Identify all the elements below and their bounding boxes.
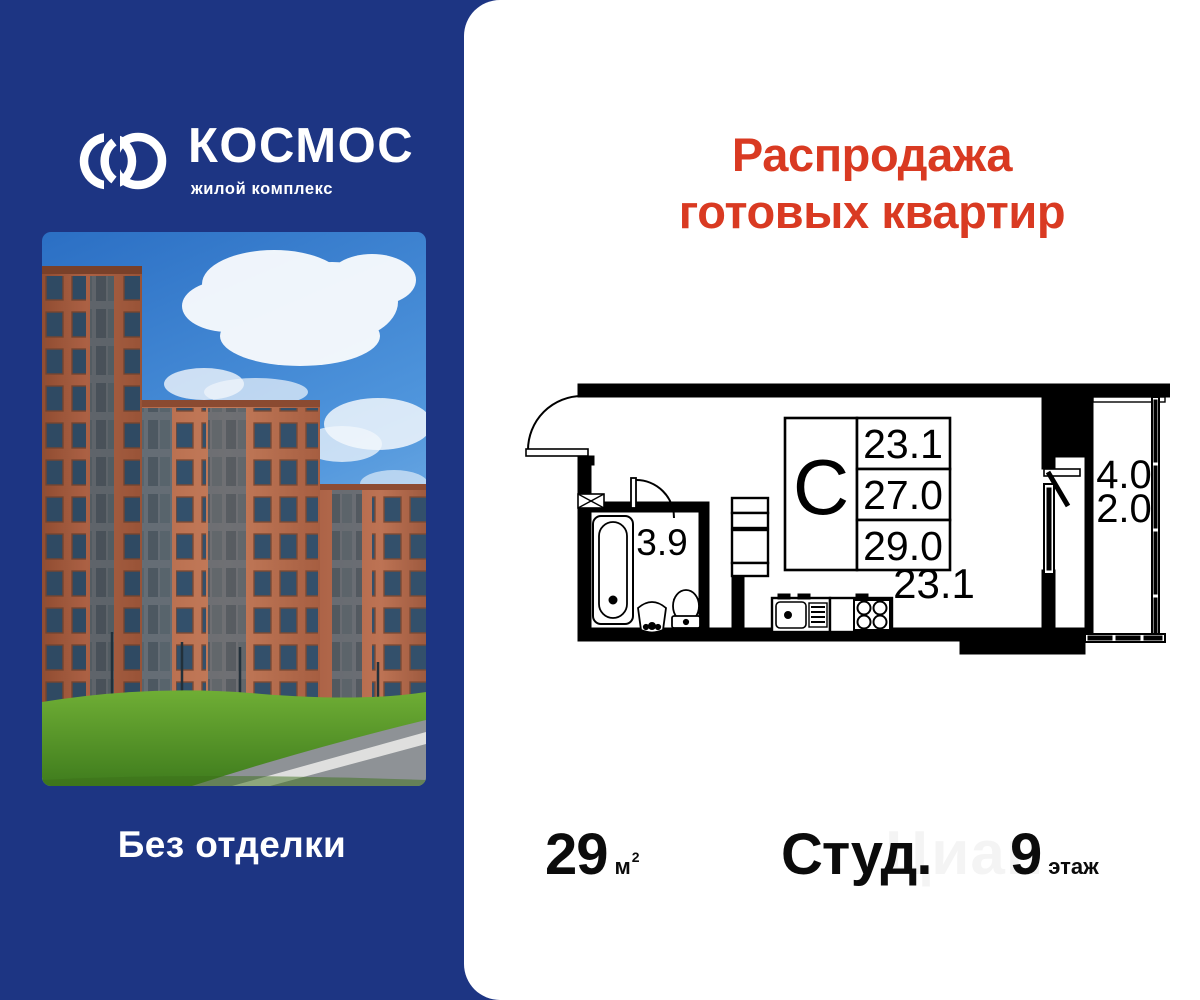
stat-floor-unit: этаж xyxy=(1048,856,1098,878)
stat-area-unit-exponent: 2 xyxy=(632,849,640,865)
brand-panel: КОСМОС жилой комплекс xyxy=(0,0,464,1000)
promo-headline: Распродажа готовых квартир xyxy=(592,126,1152,241)
legend-area-without-balcony: 27.0 xyxy=(863,472,943,518)
advertisement-card: КОСМОС жилой комплекс xyxy=(0,0,1200,1000)
brand-logo: КОСМОС жилой комплекс xyxy=(52,122,414,199)
room-area-main: 23.1 xyxy=(893,560,975,607)
stat-area-unit: м xyxy=(615,856,631,878)
stat-area-value: 29 xyxy=(545,826,608,884)
infinity-loops-icon xyxy=(52,130,170,192)
room-area-bathroom: 3.9 xyxy=(636,522,687,563)
legend-type-letter: С xyxy=(793,443,849,531)
stat-rooms: Студ. xyxy=(781,826,931,884)
stat-floor: 9 этаж xyxy=(1010,826,1099,884)
building-photo xyxy=(42,232,426,786)
stat-rooms-value: Студ. xyxy=(781,826,931,884)
floor-plan: 3.9 xyxy=(520,370,1170,670)
legend-area-living: 23.1 xyxy=(863,421,943,467)
finish-badge: Без отделки xyxy=(0,824,464,866)
apartment-stats: 29 м 2 Студ. 9 этаж xyxy=(464,812,1200,892)
promo-headline-line1: Распродажа xyxy=(592,126,1152,183)
brand-name: КОСМОС xyxy=(188,122,414,171)
stat-area: 29 м 2 xyxy=(545,826,639,884)
balcony-area-reduced: 2.0 xyxy=(1096,487,1152,531)
brand-tagline: жилой комплекс xyxy=(191,180,414,199)
stat-floor-value: 9 xyxy=(1010,826,1041,884)
promo-headline-line2: готовых квартир xyxy=(592,183,1152,240)
